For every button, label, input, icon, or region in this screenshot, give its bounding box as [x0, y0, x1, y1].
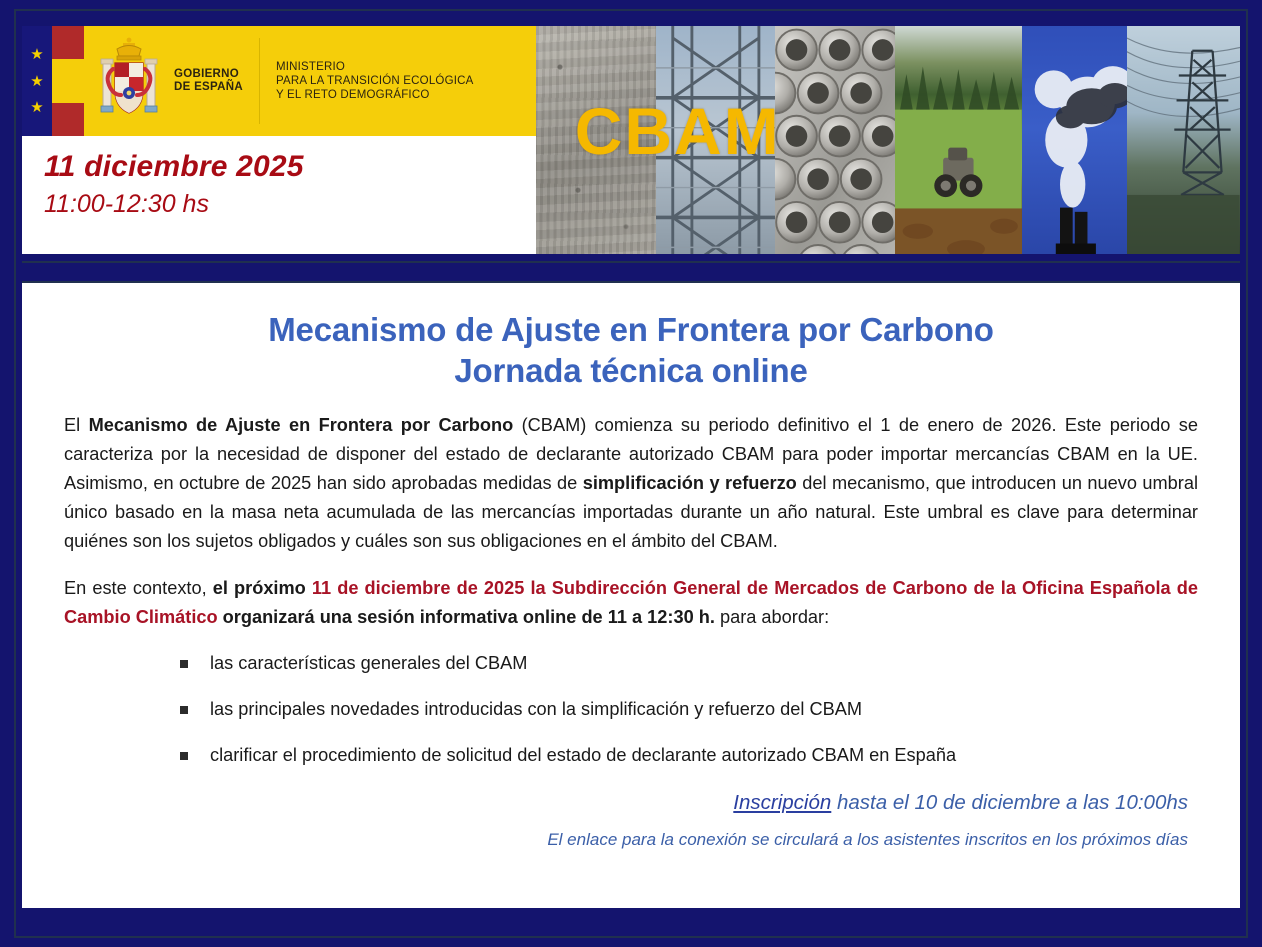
- tractor-field-photo: [895, 26, 1022, 254]
- logo-text-block: GOBIERNO DE ESPAÑA MINISTERIO PARA LA TR…: [174, 26, 536, 136]
- list-item: las características generales del CBAM: [176, 650, 1198, 677]
- registration-link[interactable]: Inscripción: [733, 791, 831, 814]
- registration-deadline: hasta el 10 de diciembre a las 10:00hs: [831, 791, 1188, 814]
- connection-note: El enlace para la conexión se circulará …: [64, 828, 1198, 852]
- eu-stripe: ★ ★ ★: [22, 26, 52, 136]
- header-body-separator: [22, 261, 1240, 283]
- agenda-list: las características generales del CBAM l…: [64, 650, 1198, 769]
- p2-s5: para abordar:: [715, 607, 829, 627]
- spain-flag-stripes: [52, 26, 84, 136]
- p1-s1: El: [64, 415, 89, 435]
- concrete-pipes-photo: [775, 26, 895, 254]
- logo-government-label: GOBIERNO DE ESPAÑA: [174, 68, 259, 94]
- spain-coat-of-arms-icon: [84, 26, 174, 136]
- event-date-block: 11 diciembre 2025 11:00-12:30 hs: [22, 136, 536, 254]
- p2-s2-bold: el próximo: [213, 578, 312, 598]
- government-logo: ★ ★ ★: [22, 26, 536, 136]
- cbam-banner-image: CBAM: [536, 26, 1240, 254]
- page-title-line2: Jornada técnica online: [64, 350, 1198, 391]
- spain-eu-flag-icon: ★ ★ ★: [22, 26, 84, 136]
- steel-truss-photo: [656, 26, 776, 254]
- flag-stripe-yellow: [52, 59, 84, 103]
- logo-ministry-label: MINISTERIO PARA LA TRANSICIÓN ECOLÓGICA …: [260, 60, 474, 102]
- poster: ★ ★ ★: [0, 0, 1262, 947]
- event-time: 11:00-12:30 hs: [44, 188, 536, 220]
- page-title: Mecanismo de Ajuste en Frontera por Carb…: [64, 309, 1198, 391]
- header-left-column: ★ ★ ★: [22, 26, 536, 254]
- eu-star-icon: ★: [30, 74, 43, 89]
- p2-s4-bold: organizará una sesión informativa online…: [218, 607, 715, 627]
- smokestack-photo: [1022, 26, 1128, 254]
- flag-stripe-red-top: [52, 26, 84, 59]
- registration-line: Inscripción hasta el 10 de diciembre a l…: [64, 788, 1198, 818]
- power-lines-photo: [1127, 26, 1240, 254]
- p2-s1: En este contexto,: [64, 578, 213, 598]
- list-item: clarificar el procedimiento de solicitud…: [176, 742, 1198, 769]
- paragraph-session: En este contexto, el próximo 11 de dicie…: [64, 574, 1198, 632]
- concrete-wall-photo: [536, 26, 656, 254]
- main-content-card: Mecanismo de Ajuste en Frontera por Carb…: [22, 283, 1240, 908]
- eu-star-icon: ★: [30, 47, 43, 62]
- list-item: las principales novedades introducidas c…: [176, 696, 1198, 723]
- eu-star-icon: ★: [30, 100, 43, 115]
- header-band: ★ ★ ★: [22, 26, 1240, 254]
- page-title-line1: Mecanismo de Ajuste en Frontera por Carb…: [268, 311, 993, 348]
- p1-s4-bold: simplificación y refuerzo: [583, 473, 797, 493]
- flag-stripe-red-bottom: [52, 103, 84, 136]
- paragraph-intro: El Mecanismo de Ajuste en Frontera por C…: [64, 411, 1198, 556]
- p1-s2-bold: Mecanismo de Ajuste en Frontera por Carb…: [89, 415, 514, 435]
- event-date: 11 diciembre 2025: [44, 150, 536, 184]
